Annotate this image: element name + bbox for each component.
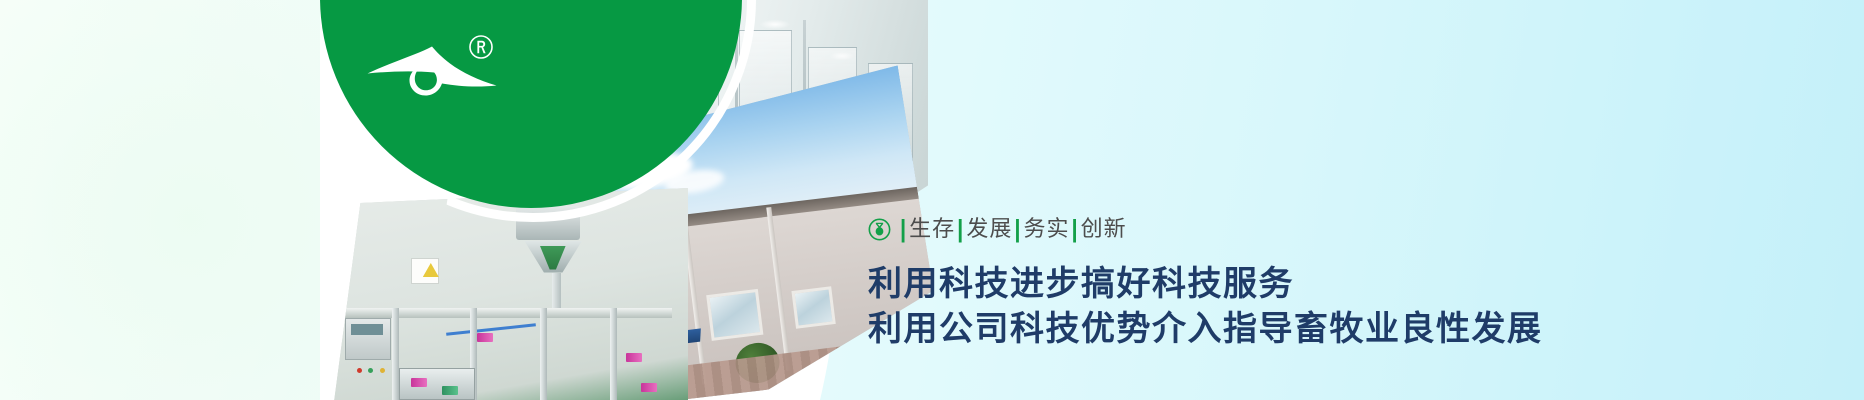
- building-window: [707, 289, 764, 341]
- indicator-light: [380, 368, 385, 373]
- product-sachet: [442, 386, 458, 395]
- product-sachet: [477, 333, 493, 342]
- headline-line-1: 利用科技进步搞好科技服务: [868, 262, 1628, 307]
- machine-column: [540, 308, 547, 400]
- machine-column: [610, 308, 617, 400]
- machine-column: [392, 308, 399, 400]
- product-sachet: [626, 353, 642, 362]
- tagline-separator: |: [898, 217, 909, 242]
- product-sachet: [641, 383, 657, 392]
- registered-trademark-icon: [468, 34, 494, 60]
- building-window: [791, 286, 835, 329]
- disc-fill: [320, 0, 742, 208]
- headline-line-2: 利用公司科技优势介入指导畜牧业良性发展: [868, 307, 1628, 352]
- machine-frame: [337, 308, 672, 318]
- indicator-light: [357, 368, 362, 373]
- tagline-words: | 生存 | 发展 | 务实 | 创新: [898, 218, 1127, 240]
- brand-green-disc: [320, 0, 742, 208]
- tagline-separator: |: [955, 217, 966, 242]
- machine-hopper: [516, 206, 580, 240]
- machine-display: [351, 324, 383, 335]
- company-banner: | 生存 | 发展 | 务实 | 创新 利用科技进步搞好科技服务 利用公司科技优…: [0, 0, 1864, 400]
- tagline-word-4: 创新: [1081, 218, 1127, 240]
- tagline-word-3: 务实: [1024, 218, 1070, 240]
- machine-fill-tube: [552, 273, 561, 313]
- tagline-separator: |: [1012, 217, 1023, 242]
- product-sachet: [411, 378, 427, 387]
- green-circle-figure-icon: [868, 218, 891, 241]
- tagline: | 生存 | 发展 | 务实 | 创新: [868, 214, 1628, 244]
- banner-text-block: | 生存 | 发展 | 务实 | 创新 利用科技进步搞好科技服务 利用公司科技优…: [868, 214, 1628, 352]
- tagline-word-1: 生存: [909, 218, 955, 240]
- machine-control-panel: [345, 318, 391, 360]
- tagline-separator: |: [1070, 217, 1081, 242]
- tagline-word-2: 发展: [966, 218, 1012, 240]
